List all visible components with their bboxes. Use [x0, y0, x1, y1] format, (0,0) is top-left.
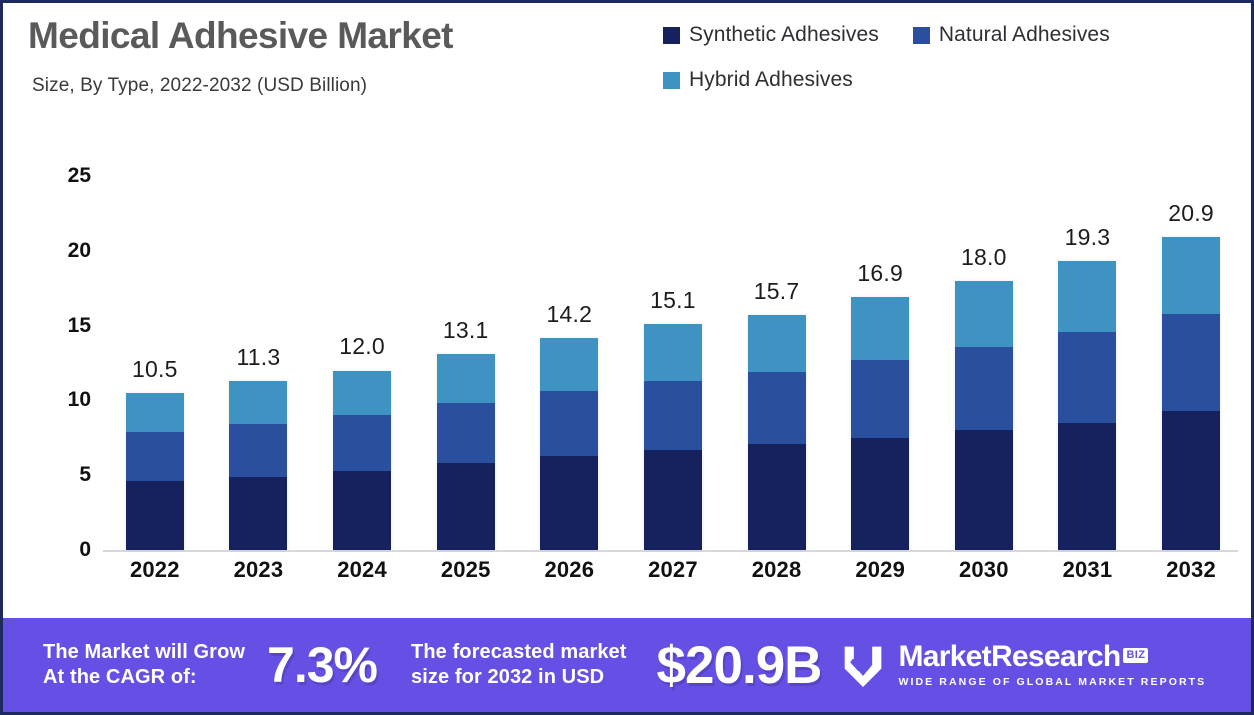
bar-stack-2025	[437, 354, 495, 550]
bar-stack-2030	[955, 281, 1013, 550]
bar-series-container: 10.511.312.013.114.215.115.716.918.019.3…	[103, 125, 1243, 550]
x-axis-label-2031: 2031	[1036, 557, 1139, 583]
forecast-caption-line-1: The forecasted market	[411, 640, 627, 665]
bar-column-2028[interactable]: 15.7	[725, 125, 828, 550]
cagr-value: 7.3%	[267, 636, 377, 694]
brand-text: MarketResearch BIZ WIDE RANGE OF GLOBAL …	[898, 642, 1206, 688]
bar-column-2030[interactable]: 18.0	[932, 125, 1035, 550]
bar-segment-synthetic-adhesives-2022	[126, 481, 184, 550]
bar-stack-2023	[229, 381, 287, 550]
bar-segment-hybrid-adhesives-2031	[1058, 261, 1116, 331]
legend-label-natural-adhesives: Natural Adhesives	[939, 23, 1110, 47]
bar-segment-synthetic-adhesives-2025	[437, 463, 495, 550]
forecast-caption-line-2: size for 2032 in USD	[411, 665, 627, 690]
bar-segment-synthetic-adhesives-2032	[1162, 411, 1220, 550]
bar-segment-natural-adhesives-2023	[229, 424, 287, 476]
bar-column-2029[interactable]: 16.9	[829, 125, 932, 550]
bar-segment-natural-adhesives-2025	[437, 403, 495, 463]
bar-total-label-2028: 15.7	[725, 278, 828, 305]
legend-item-hybrid-adhesives[interactable]: Hybrid Adhesives	[663, 68, 853, 92]
brand-name-row: MarketResearch BIZ	[898, 642, 1206, 672]
bar-segment-natural-adhesives-2029	[851, 360, 909, 438]
bar-segment-synthetic-adhesives-2026	[540, 456, 598, 550]
brand-tagline: WIDE RANGE OF GLOBAL MARKET REPORTS	[898, 676, 1206, 688]
forecast-caption: The forecasted market size for 2032 in U…	[411, 640, 627, 690]
y-axis-tick-10: 10	[68, 388, 91, 412]
bar-segment-natural-adhesives-2032	[1162, 314, 1220, 411]
bar-segment-synthetic-adhesives-2030	[955, 430, 1013, 550]
bar-stack-2028	[748, 315, 806, 550]
x-axis-label-2026: 2026	[518, 557, 621, 583]
x-axis-label-2032: 2032	[1140, 557, 1243, 583]
x-axis-baseline	[103, 550, 1238, 552]
chart-plot-area: 2520151050 10.511.312.013.114.215.115.71…	[3, 125, 1251, 618]
bar-segment-synthetic-adhesives-2031	[1058, 423, 1116, 550]
bar-segment-natural-adhesives-2022	[126, 432, 184, 481]
bar-column-2032[interactable]: 20.9	[1140, 125, 1243, 550]
bar-stack-2032	[1162, 237, 1220, 550]
page-title: Medical Adhesive Market	[28, 15, 453, 57]
legend-row-bottom: Hybrid Adhesives	[663, 47, 1243, 92]
bar-segment-hybrid-adhesives-2024	[333, 371, 391, 416]
bar-segment-natural-adhesives-2031	[1058, 332, 1116, 423]
cagr-caption-line-2: At the CAGR of:	[43, 665, 245, 690]
legend-swatch-natural-adhesives	[913, 27, 930, 44]
legend-swatch-hybrid-adhesives	[663, 72, 680, 89]
bar-segment-hybrid-adhesives-2027	[644, 324, 702, 381]
bar-stack-2031	[1058, 261, 1116, 550]
legend-item-synthetic-adhesives[interactable]: Synthetic Adhesives	[663, 23, 879, 47]
bar-stack-2022	[126, 393, 184, 550]
bar-column-2027[interactable]: 15.1	[621, 125, 724, 550]
chart-poster: Medical Adhesive Market Size, By Type, 2…	[0, 0, 1254, 715]
bar-stack-2026	[540, 338, 598, 550]
bar-segment-hybrid-adhesives-2032	[1162, 237, 1220, 313]
y-axis-tick-15: 15	[68, 314, 91, 338]
bar-total-label-2024: 12.0	[311, 333, 414, 360]
bar-total-label-2032: 20.9	[1140, 200, 1243, 227]
y-axis-tick-25: 25	[68, 164, 91, 188]
y-axis-tick-20: 20	[68, 239, 91, 263]
brand-name: MarketResearch	[898, 642, 1120, 672]
x-axis-label-2029: 2029	[829, 557, 932, 583]
bar-total-label-2023: 11.3	[207, 344, 310, 371]
cagr-caption: The Market will Grow At the CAGR of:	[43, 640, 245, 690]
bar-segment-hybrid-adhesives-2025	[437, 354, 495, 403]
x-axis-label-2030: 2030	[932, 557, 1035, 583]
bar-column-2026[interactable]: 14.2	[518, 125, 621, 550]
bar-segment-synthetic-adhesives-2028	[748, 444, 806, 550]
bar-segment-hybrid-adhesives-2028	[748, 315, 806, 372]
y-axis-tick-5: 5	[79, 463, 91, 487]
x-axis-label-2025: 2025	[414, 557, 517, 583]
bar-segment-natural-adhesives-2030	[955, 347, 1013, 431]
page-subtitle: Size, By Type, 2022-2032 (USD Billion)	[32, 75, 367, 97]
bar-segment-synthetic-adhesives-2024	[333, 471, 391, 550]
bar-stack-2029	[851, 297, 909, 550]
bar-total-label-2022: 10.5	[103, 356, 206, 383]
bar-column-2022[interactable]: 10.5	[103, 125, 206, 550]
bar-column-2025[interactable]: 13.1	[414, 125, 517, 550]
bar-stack-2024	[333, 371, 391, 551]
bar-segment-hybrid-adhesives-2022	[126, 393, 184, 432]
y-axis: 2520151050	[3, 125, 103, 618]
bar-total-label-2031: 19.3	[1036, 224, 1139, 251]
x-axis-label-2027: 2027	[621, 557, 724, 583]
forecast-value: $20.9B	[657, 635, 822, 696]
x-axis-label-2022: 2022	[103, 557, 206, 583]
bar-total-label-2029: 16.9	[829, 260, 932, 287]
bar-segment-natural-adhesives-2024	[333, 415, 391, 470]
bar-total-label-2026: 14.2	[518, 301, 621, 328]
bar-segment-hybrid-adhesives-2030	[955, 281, 1013, 347]
y-axis-tick-0: 0	[79, 538, 91, 562]
chart-legend: Synthetic Adhesives Natural Adhesives Hy…	[663, 23, 1243, 92]
bar-column-2031[interactable]: 19.3	[1036, 125, 1139, 550]
legend-item-natural-adhesives[interactable]: Natural Adhesives	[913, 23, 1110, 47]
bar-segment-natural-adhesives-2026	[540, 391, 598, 455]
bar-total-label-2030: 18.0	[932, 244, 1035, 271]
brand-badge: BIZ	[1123, 648, 1148, 663]
x-axis-label-2024: 2024	[311, 557, 414, 583]
legend-swatch-synthetic-adhesives	[663, 27, 680, 44]
poster-header: Medical Adhesive Market Size, By Type, 2…	[3, 3, 1251, 125]
bar-segment-natural-adhesives-2028	[748, 372, 806, 444]
legend-label-hybrid-adhesives: Hybrid Adhesives	[689, 68, 853, 92]
brand-logo[interactable]: MarketResearch BIZ WIDE RANGE OF GLOBAL …	[841, 642, 1206, 688]
bar-column-2024[interactable]: 12.0	[311, 125, 414, 550]
bar-stack-2027	[644, 324, 702, 550]
bar-segment-synthetic-adhesives-2027	[644, 450, 702, 550]
cagr-caption-line-1: The Market will Grow	[43, 640, 245, 665]
x-axis-label-2028: 2028	[725, 557, 828, 583]
bar-segment-hybrid-adhesives-2029	[851, 297, 909, 360]
bar-segment-hybrid-adhesives-2023	[229, 381, 287, 424]
bar-segment-synthetic-adhesives-2029	[851, 438, 909, 550]
x-axis-labels: 2022202320242025202620272028202920302031…	[103, 557, 1243, 583]
bar-segment-hybrid-adhesives-2026	[540, 338, 598, 392]
bar-column-2023[interactable]: 11.3	[207, 125, 310, 550]
footer-banner: The Market will Grow At the CAGR of: 7.3…	[3, 618, 1251, 712]
bar-total-label-2027: 15.1	[621, 287, 724, 314]
bar-segment-natural-adhesives-2027	[644, 381, 702, 450]
bar-total-label-2025: 13.1	[414, 317, 517, 344]
x-axis-label-2023: 2023	[207, 557, 310, 583]
checkmark-shield-icon	[841, 643, 885, 687]
bar-segment-synthetic-adhesives-2023	[229, 477, 287, 550]
legend-row-top: Synthetic Adhesives Natural Adhesives	[663, 23, 1243, 47]
legend-label-synthetic-adhesives: Synthetic Adhesives	[689, 23, 879, 47]
